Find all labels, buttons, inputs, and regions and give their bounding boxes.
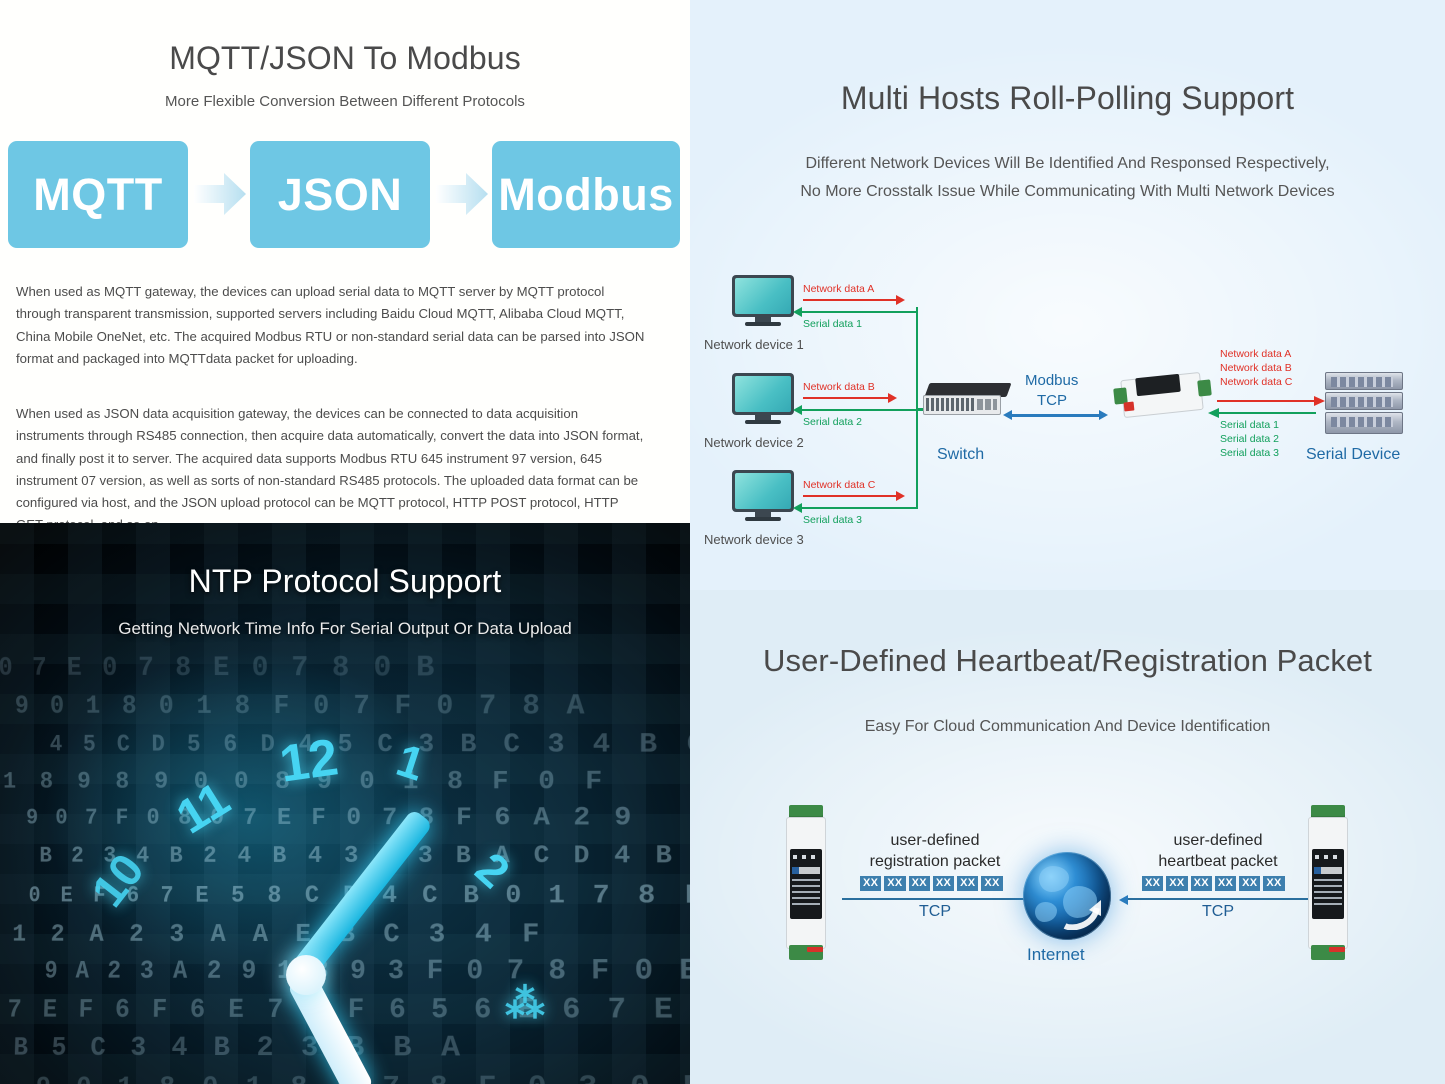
rs485-module-right-icon: [1305, 805, 1351, 960]
switch-icon: [923, 383, 1009, 417]
serial-device-label: Serial Device: [1306, 446, 1400, 464]
network-data-b-arrowhead: [888, 393, 897, 403]
panel-user-defined-heartbeat-registration: User-Defined Heartbeat/Registration Pack…: [690, 590, 1445, 1084]
registration-packet-label-line-2: registration packet: [835, 851, 1035, 872]
network-data-c-arrow: [803, 495, 898, 497]
network-device-1-label: Network device 1: [704, 337, 804, 352]
serial-data-1-arrow: [800, 311, 916, 313]
heartbeat-panel-subtitle: Easy For Cloud Communication And Device …: [690, 718, 1445, 736]
serial-data-3-arrow: [800, 507, 916, 509]
serial-data-1-label: Serial data 1: [803, 318, 862, 330]
registration-packet-label-line-1: user-defined: [835, 830, 1035, 851]
right-network-data-b-label: Network data B: [1220, 362, 1292, 374]
flow-arrow-2: [430, 141, 492, 248]
hex-digit-background: 0 7 E 0 7 8 E 0 7 8 0 B9 0 1 8 0 1 8 F 0…: [0, 523, 690, 1084]
rs485-gateway-module-icon: [1114, 372, 1210, 418]
monitor-icon: [732, 470, 794, 522]
mqtt-description-paragraph-2: When used as JSON data acquisition gatew…: [16, 403, 646, 523]
packet-byte: XX: [1191, 876, 1212, 891]
serial-data-2-arrow: [800, 409, 925, 411]
flow-box-json: JSON: [250, 141, 430, 248]
switch-label: Switch: [937, 446, 984, 464]
modbus-tcp-link: [1012, 414, 1100, 417]
network-device-3-label: Network device 3: [704, 532, 804, 547]
network-data-a-arrow: [803, 299, 898, 301]
flow-box-mqtt: MQTT: [8, 141, 188, 248]
rollpolling-panel-title: Multi Hosts Roll-Polling Support: [690, 80, 1445, 117]
internet-label: Internet: [1027, 945, 1085, 965]
panel-ntp-protocol-support: 0 7 E 0 7 8 E 0 7 8 0 B9 0 1 8 0 1 8 F 0…: [0, 523, 690, 1084]
network-data-c-label: Network data C: [803, 479, 875, 491]
rollpolling-subtitle-line-2: No More Crosstalk Issue While Communicat…: [690, 183, 1445, 201]
heartbeat-packet-protocol: TCP: [1168, 903, 1268, 921]
panel-mqtt-json-to-modbus: MQTT/JSON To Modbus More Flexible Conver…: [0, 0, 690, 523]
rollpolling-subtitle-line-1: Different Network Devices Will Be Identi…: [690, 155, 1445, 173]
heartbeat-packet-label-line-2: heartbeat packet: [1118, 851, 1318, 872]
protocol-conversion-flow: MQTT JSON Modbus: [8, 141, 680, 248]
internet-globe-icon: [1023, 852, 1111, 940]
packet-byte: XX: [1215, 876, 1236, 891]
heartbeat-packet-label-line-1: user-defined: [1118, 830, 1318, 851]
right-serial-data-1-label: Serial data 1: [1220, 419, 1279, 431]
packet-byte: XX: [884, 876, 905, 891]
modbus-tcp-arrowhead-right: [1099, 410, 1108, 420]
modbus-label-line-1: Modbus: [1025, 372, 1078, 389]
flow-arrow-1: [188, 141, 250, 248]
panel-multi-hosts-roll-polling: Multi Hosts Roll-Polling Support Differe…: [690, 0, 1445, 590]
right-arrow-icon: [436, 171, 488, 217]
mqtt-description-paragraph-1: When used as MQTT gateway, the devices c…: [16, 281, 646, 370]
packet-byte: XX: [957, 876, 978, 891]
packet-byte: XX: [1263, 876, 1284, 891]
heartbeat-packet-arrowhead: [1119, 895, 1128, 905]
mqtt-panel-subtitle: More Flexible Conversion Between Differe…: [0, 93, 690, 110]
serial-data-2-arrowhead: [793, 405, 802, 415]
clock-center-hub: [286, 955, 326, 995]
marketing-feature-collage: MQTT/JSON To Modbus More Flexible Conver…: [0, 0, 1445, 1084]
network-device-2-label: Network device 2: [704, 435, 804, 450]
right-network-data-arrow: [1217, 400, 1316, 402]
network-data-a-label: Network data A: [803, 283, 874, 295]
modbus-tcp-arrowhead-left: [1003, 410, 1012, 420]
globe-swoosh-icon: [1063, 894, 1103, 930]
right-serial-data-arrowhead: [1208, 408, 1219, 418]
mqtt-panel-title: MQTT/JSON To Modbus: [0, 40, 690, 77]
ntp-panel-title: NTP Protocol Support: [0, 563, 690, 600]
registration-packet-protocol: TCP: [885, 903, 985, 921]
packet-byte: XX: [1239, 876, 1260, 891]
serial-data-3-arrowhead: [793, 503, 802, 513]
clock-link-glyph: ⁂: [505, 981, 545, 1030]
right-network-data-a-label: Network data A: [1220, 348, 1291, 360]
serial-device-rack-icon: [1325, 372, 1403, 434]
network-data-c-arrowhead: [896, 491, 905, 501]
hex-checker-overlay: [0, 523, 690, 1084]
packet-byte: XX: [1142, 876, 1163, 891]
clock-numeral-12: 12: [276, 727, 342, 794]
right-arrow-icon: [194, 171, 246, 217]
packet-byte: XX: [933, 876, 954, 891]
right-serial-data-3-label: Serial data 3: [1220, 447, 1279, 459]
right-network-data-arrowhead: [1314, 396, 1325, 406]
serial-data-2-label: Serial data 2: [803, 416, 862, 428]
packet-byte: XX: [981, 876, 1002, 891]
monitor-icon: [732, 275, 794, 327]
heartbeat-packet-arrow: [1128, 898, 1316, 900]
serial-data-1-arrowhead: [793, 307, 802, 317]
heartbeat-panel-title: User-Defined Heartbeat/Registration Pack…: [690, 643, 1445, 679]
rs485-module-left-icon: [783, 805, 829, 960]
ntp-panel-subtitle: Getting Network Time Info For Serial Out…: [0, 619, 690, 639]
heartbeat-packet-bytes: XXXXXXXXXXXX: [1142, 876, 1285, 891]
packet-byte: XX: [1166, 876, 1187, 891]
serial-data-3-label: Serial data 3: [803, 514, 862, 526]
right-serial-data-arrow: [1217, 412, 1316, 414]
packet-byte: XX: [860, 876, 881, 891]
network-data-b-arrow: [803, 397, 890, 399]
network-data-a-arrowhead: [896, 295, 905, 305]
network-data-b-label: Network data B: [803, 381, 875, 393]
right-serial-data-2-label: Serial data 2: [1220, 433, 1279, 445]
flow-box-modbus: Modbus: [492, 141, 680, 248]
modbus-label-line-2: TCP: [1037, 392, 1067, 409]
packet-byte: XX: [909, 876, 930, 891]
right-network-data-c-label: Network data C: [1220, 376, 1292, 388]
registration-packet-arrow: [842, 898, 1030, 900]
monitor-icon: [732, 373, 794, 425]
registration-packet-bytes: XXXXXXXXXXXX: [860, 876, 1003, 891]
